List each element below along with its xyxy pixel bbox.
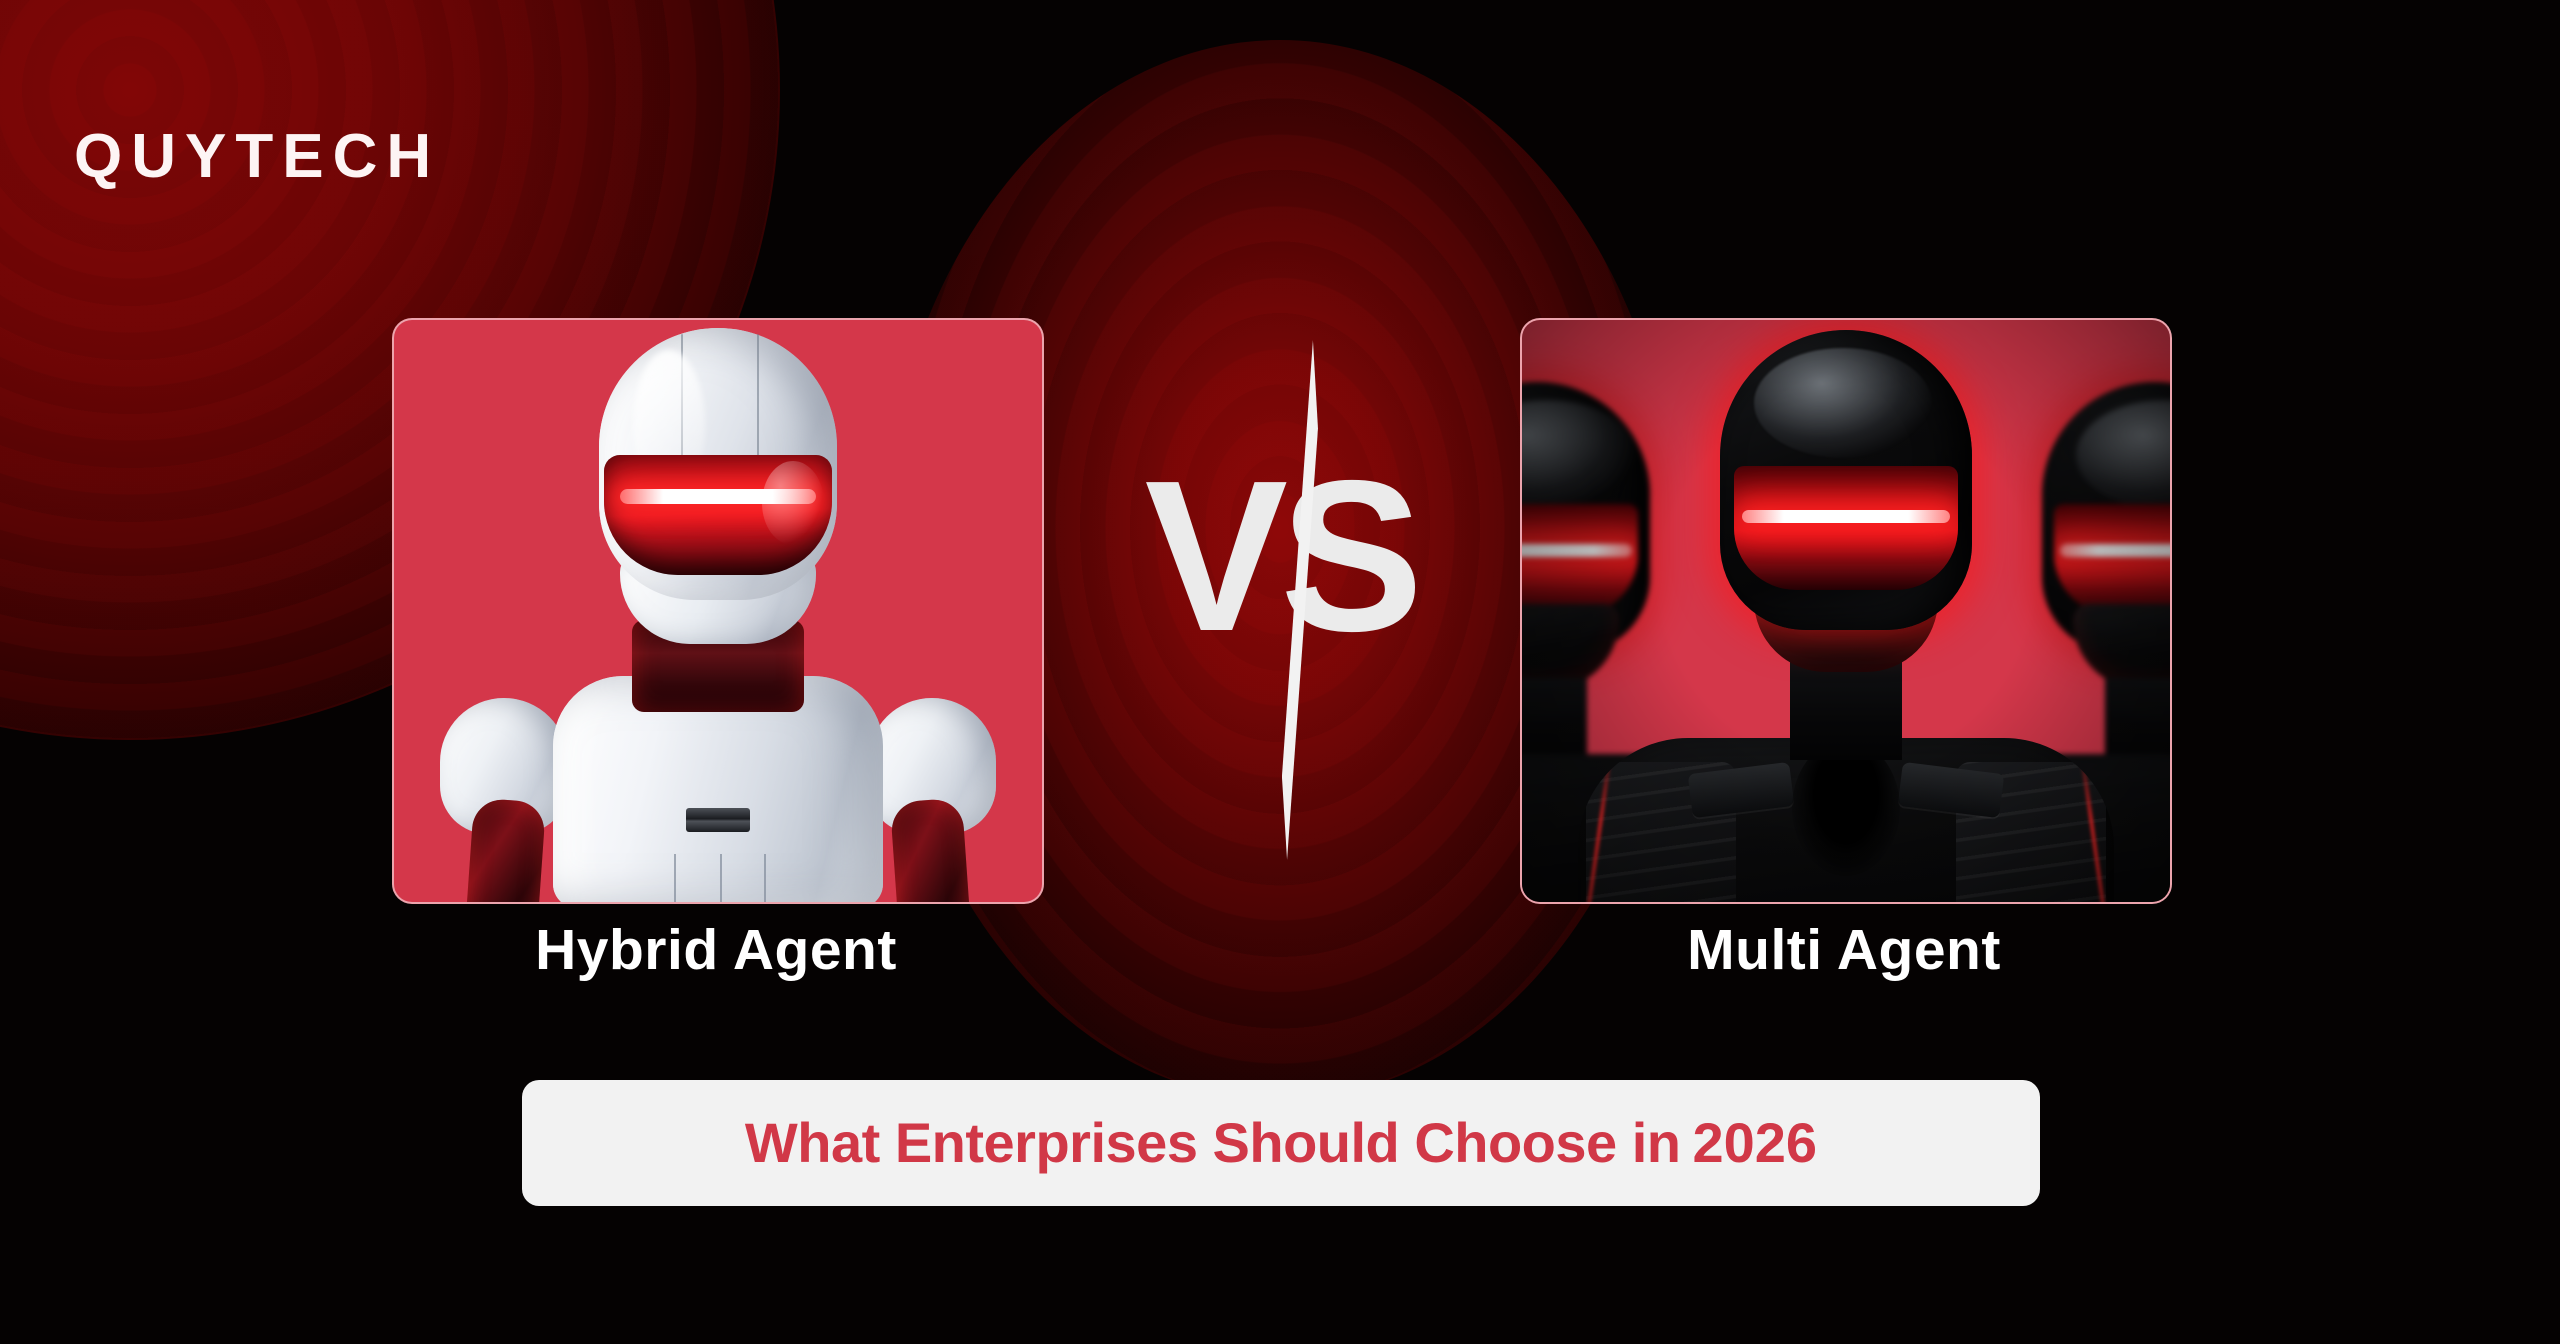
multi-agent-label: Multi Agent [1520,922,2168,979]
robot-sternum-shadow [1792,740,1900,876]
robot-visor-light [1742,510,1950,523]
headline-banner[interactable]: What Enterprises Should Choose in2026 [522,1080,2040,1206]
robot-helmet [1720,330,1972,630]
robot-chest-vent [686,808,750,832]
quytech-logo[interactable]: QUYTECH [74,126,440,188]
robot-torso [1578,738,2114,904]
helmet-highlight [1754,348,1932,458]
robot-visor [604,455,832,575]
robot-chest-seam [674,854,766,904]
headline-text: What Enterprises Should Choose in2026 [745,1115,1817,1171]
headline-year: 2026 [1693,1111,1818,1174]
vs-label: VS [1100,448,1460,663]
multi-agent-card[interactable] [1520,318,2172,904]
poster-canvas: QUYTECH [0,0,2560,1344]
hybrid-agent-card[interactable] [392,318,1044,904]
vs-badge: VS [1100,340,1460,870]
foreground-robot [1578,330,2114,904]
hybrid-agent-label: Hybrid Agent [392,922,1040,979]
robot-visor-gloss [762,461,824,545]
robot-visor [1734,466,1958,590]
headline-main: What Enterprises Should Choose in [745,1111,1681,1174]
